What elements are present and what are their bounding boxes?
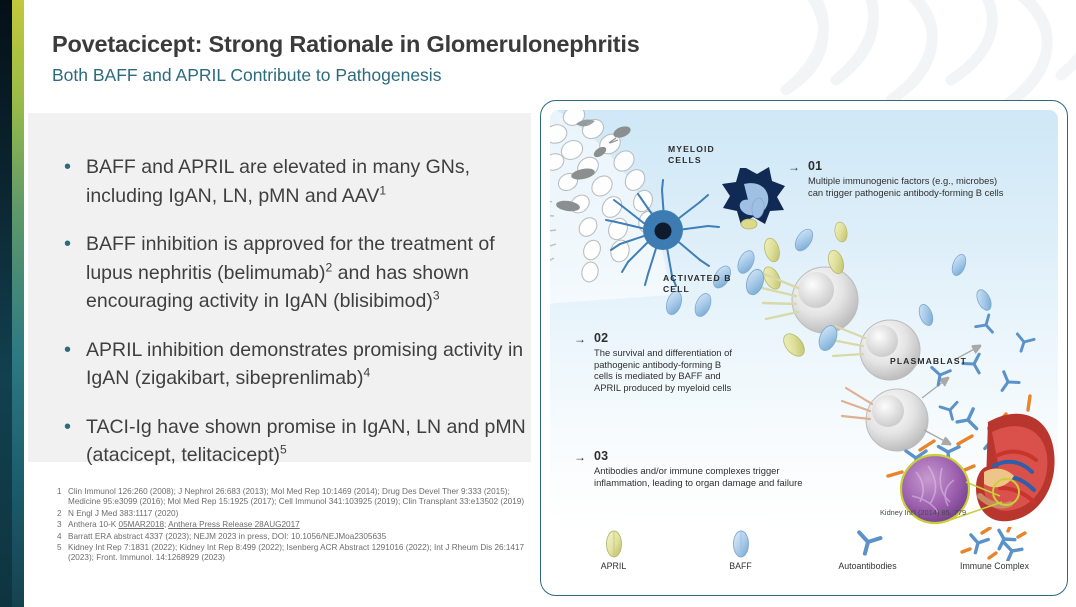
- bullet-list: • BAFF and APRIL are elevated in many GN…: [60, 153, 540, 490]
- footnote-text: Anthera 10-K 05MAR2018; Anthera Press Re…: [68, 520, 527, 530]
- label-activated-b-cell: ACTIVATED B CELL: [663, 273, 732, 295]
- immune-complex-icon: [931, 529, 1058, 559]
- bullet-superscript-b: 3: [433, 289, 440, 303]
- bullet-body: TACI-Ig have shown promise in IgAN, LN a…: [86, 416, 526, 467]
- arrow-icon: →: [788, 160, 800, 174]
- bullet-superscript: 5: [280, 443, 287, 457]
- legend-label: Autoantibodies: [804, 561, 931, 571]
- list-item: • APRIL inhibition demonstrates promisin…: [60, 336, 540, 393]
- footnote-number: 4: [57, 532, 68, 542]
- step-description: The survival and differentiation of path…: [594, 347, 732, 393]
- step-description: Antibodies and/or immune complexes trigg…: [594, 465, 802, 488]
- kidney-glyph: [976, 414, 1055, 522]
- label-plasmablast: PLASMABLAST: [890, 356, 967, 367]
- pathogenesis-diagram-card: MYELOID CELLS ACTIVATED B CELL PLASMABLA…: [540, 100, 1068, 596]
- page-title: Povetacicept: Strong Rationale in Glomer…: [52, 31, 640, 58]
- footnote-number: 3: [57, 520, 68, 530]
- bullet-body: BAFF and APRIL are elevated in many GNs,…: [86, 156, 470, 207]
- step-number: 01: [808, 159, 822, 173]
- myeloid-cell-glyph: [722, 167, 785, 229]
- bullet-marker: •: [60, 153, 86, 210]
- plasmablast-glyph: [842, 388, 928, 451]
- footnote-text: Kidney Int Rep 7:1831 (2022); Kidney Int…: [68, 543, 527, 564]
- footnote-text: Clin Immunol 126:260 (2008); J Nephrol 2…: [68, 487, 527, 508]
- label-myeloid-cells: MYELOID CELLS: [668, 144, 715, 166]
- legend-label: Immune Complex: [931, 561, 1058, 571]
- arrow-icon: →: [574, 332, 586, 346]
- b-cell-glyph-2: [816, 320, 920, 380]
- slide: Povetacicept: Strong Rationale in Glomer…: [0, 0, 1076, 607]
- list-item: • BAFF inhibition is approved for the tr…: [60, 230, 540, 316]
- bullet-body: APRIL inhibition demonstrates promising …: [86, 339, 523, 390]
- footnote-number: 2: [57, 509, 68, 519]
- footnote-number: 5: [57, 543, 68, 564]
- diagram-source-citation: Kidney Int'l (2014) 85, 779: [880, 508, 966, 517]
- legend-item-april: APRIL: [550, 529, 677, 585]
- baff-ligand-icon: [677, 529, 804, 559]
- footnote-list: 1 Clin Immunol 126:260 (2008); J Nephrol…: [57, 487, 527, 565]
- footnote-number: 1: [57, 487, 68, 508]
- step-number: 03: [594, 449, 608, 463]
- footnote-item: 3 Anthera 10-K 05MAR2018; Anthera Press …: [57, 520, 527, 530]
- arrow-icon: →: [574, 450, 586, 464]
- bullet-marker: •: [60, 336, 86, 393]
- left-accent-bar-gradient: [12, 0, 24, 607]
- footnote-text: Barratt ERA abstract 4337 (2023); NEJM 2…: [68, 532, 527, 542]
- step-number: 02: [594, 331, 608, 345]
- bullet-text: BAFF and APRIL are elevated in many GNs,…: [86, 153, 540, 210]
- footnote-item: 2 N Engl J Med 383:1117 (2020): [57, 509, 527, 519]
- bullet-marker: •: [60, 413, 86, 470]
- autoantibody-field: [929, 315, 1034, 422]
- footnote-item: 1 Clin Immunol 126:260 (2008); J Nephrol…: [57, 487, 527, 508]
- diagram-legend: APRIL: [550, 529, 1058, 585]
- legend-label: APRIL: [550, 561, 677, 571]
- bullet-superscript: 1: [379, 183, 386, 197]
- footnote-prefix: Anthera 10-K: [68, 520, 119, 529]
- diagram-stage: MYELOID CELLS ACTIVATED B CELL PLASMABLA…: [550, 110, 1058, 525]
- legend-item-autoantibodies: Autoantibodies: [804, 529, 931, 585]
- bullet-text: TACI-Ig have shown promise in IgAN, LN a…: [86, 413, 540, 470]
- legend-item-immune-complex: Immune Complex: [931, 529, 1058, 585]
- bullet-superscript: 4: [363, 366, 370, 380]
- footnote-item: 4 Barratt ERA abstract 4337 (2023); NEJM…: [57, 532, 527, 542]
- diagram-illustration: [550, 110, 1058, 525]
- list-item: • BAFF and APRIL are elevated in many GN…: [60, 153, 540, 210]
- legend-item-baff: BAFF: [677, 529, 804, 585]
- april-ligand-icon: [550, 529, 677, 559]
- left-accent-bar-dark: [0, 0, 12, 607]
- autoantibody-icon: [804, 529, 931, 559]
- footnote-link-anthera-10k[interactable]: 05MAR2018: [119, 520, 165, 529]
- footnote-link-press-release[interactable]: Anthera Press Release 28AUG2017: [168, 520, 300, 529]
- page-subtitle: Both BAFF and APRIL Contribute to Pathog…: [52, 65, 441, 86]
- list-item: • TACI-Ig have shown promise in IgAN, LN…: [60, 413, 540, 470]
- bullet-marker: •: [60, 230, 86, 316]
- footnote-item: 5 Kidney Int Rep 7:1831 (2022); Kidney I…: [57, 543, 527, 564]
- bullet-text: BAFF inhibition is approved for the trea…: [86, 230, 540, 316]
- bullet-text: APRIL inhibition demonstrates promising …: [86, 336, 540, 393]
- footnote-text: N Engl J Med 383:1117 (2020): [68, 509, 527, 519]
- b-cell-glyph-1: [743, 248, 858, 333]
- step-description: Multiple immunogenic factors (e.g., micr…: [808, 175, 1003, 198]
- legend-label: BAFF: [677, 561, 804, 571]
